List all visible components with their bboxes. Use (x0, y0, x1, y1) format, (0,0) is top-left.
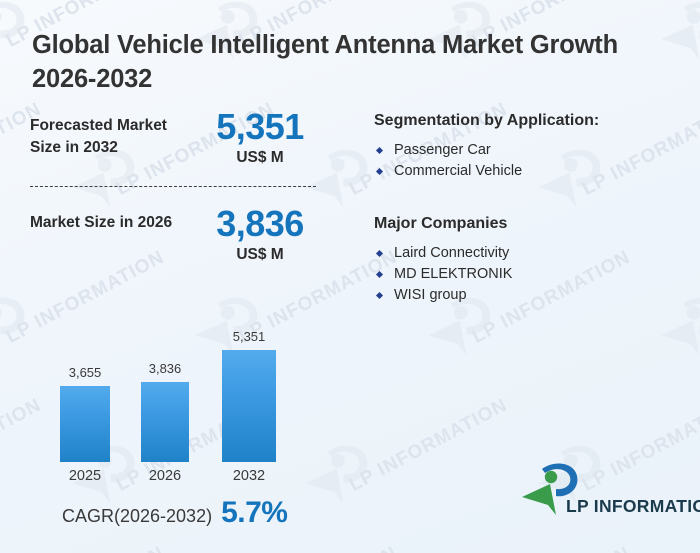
watermark-tile: LP INFORMATION (659, 266, 700, 386)
companies-panel: Major Companies Laird ConnectivityMD ELE… (374, 215, 512, 306)
stat-forecast-unit: US$ M (200, 148, 320, 168)
watermark-tile: LP INFORMATION (303, 414, 493, 534)
watermark-logo-icon (0, 0, 34, 78)
segmentation-heading: Segmentation by Application: (374, 112, 599, 130)
stat-forecast-value-group: 5,351 US$ M (200, 107, 320, 168)
bullet-diamond-icon (376, 147, 383, 154)
segmentation-item-label: Passenger Car (394, 142, 491, 158)
watermark-tile: LP INFORMATION (659, 0, 700, 90)
bullet-diamond-icon (376, 250, 383, 257)
cagr-value: 5.7% (221, 496, 287, 530)
page-title: Global Vehicle Intelligent Antenna Marke… (32, 28, 652, 96)
segmentation-item: Commercial Vehicle (374, 161, 599, 182)
infographic-canvas: LP INFORMATIONLP INFORMATIONLP INFORMATI… (0, 0, 700, 553)
bullet-diamond-icon (376, 292, 383, 299)
stat-forecast-value: 5,351 (200, 107, 320, 147)
segmentation-list: Passenger CarCommercial Vehicle (374, 140, 599, 182)
watermark-text: LP INFORMATION (0, 395, 45, 497)
market-size-bar-chart: 3,65520253,83620265,3512032 (40, 330, 310, 490)
bar-category-label: 2032 (233, 468, 265, 484)
cagr-summary: CAGR(2026-2032) 5.7% (62, 496, 287, 530)
watermark-text: LP INFORMATION (469, 543, 635, 553)
companies-list: Laird ConnectivityMD ELEKTRONIKWISI grou… (374, 243, 512, 306)
bar-value-label: 3,836 (149, 361, 182, 376)
bullet-diamond-icon (376, 271, 383, 278)
bar-rect (222, 350, 276, 462)
watermark-tile: LP INFORMATION (0, 118, 27, 238)
watermark-logo-icon (0, 274, 34, 374)
stat-current-label: Market Size in 2026 (30, 212, 200, 234)
section-divider (30, 186, 316, 187)
company-item: Laird Connectivity (374, 243, 512, 264)
company-item-label: MD ELEKTRONIK (394, 266, 512, 282)
bar-value-label: 3,655 (69, 365, 102, 380)
watermark-text: LP INFORMATION (346, 395, 512, 497)
bar-rect (141, 382, 189, 462)
stat-forecasted-market-size: Forecasted Market Size in 2032 5,351 US$… (30, 115, 330, 168)
stat-forecast-label: Forecasted Market Size in 2032 (30, 115, 200, 159)
stat-market-size-2026: Market Size in 2026 3,836 US$ M (30, 212, 330, 265)
watermark-text: LP INFORMATION (236, 543, 402, 553)
bar-rect (60, 386, 110, 462)
cagr-label: CAGR(2026-2032) (62, 506, 212, 527)
stat-current-value-group: 3,836 US$ M (200, 204, 320, 265)
stat-current-unit: US$ M (200, 245, 320, 265)
bullet-diamond-icon (376, 168, 383, 175)
bar-group: 3,6552025 (60, 386, 110, 462)
bar-value-label: 5,351 (233, 329, 266, 344)
segmentation-panel: Segmentation by Application: Passenger C… (374, 112, 599, 182)
watermark-logo-icon (303, 422, 377, 522)
watermark-tile: LP INFORMATION (0, 414, 27, 534)
watermark-text: LP INFORMATION (3, 543, 169, 553)
company-item: WISI group (374, 285, 512, 306)
bar-category-label: 2025 (69, 468, 101, 484)
company-item-label: WISI group (394, 287, 467, 303)
watermark-logo-icon (659, 0, 700, 78)
watermark-logo-icon (659, 274, 700, 374)
segmentation-item: Passenger Car (374, 140, 599, 161)
bar-group: 3,8362026 (141, 382, 189, 462)
company-item-label: Laird Connectivity (394, 245, 509, 261)
segmentation-item-label: Commercial Vehicle (394, 163, 522, 179)
bar-group: 5,3512032 (222, 350, 276, 462)
brand-logo: LP INFORMATION (520, 458, 680, 528)
companies-heading: Major Companies (374, 215, 512, 233)
company-item: MD ELEKTRONIK (374, 264, 512, 285)
bar-category-label: 2026 (149, 468, 181, 484)
stat-current-value: 3,836 (200, 204, 320, 244)
logo-wordmark: LP INFORMATION (566, 496, 700, 517)
